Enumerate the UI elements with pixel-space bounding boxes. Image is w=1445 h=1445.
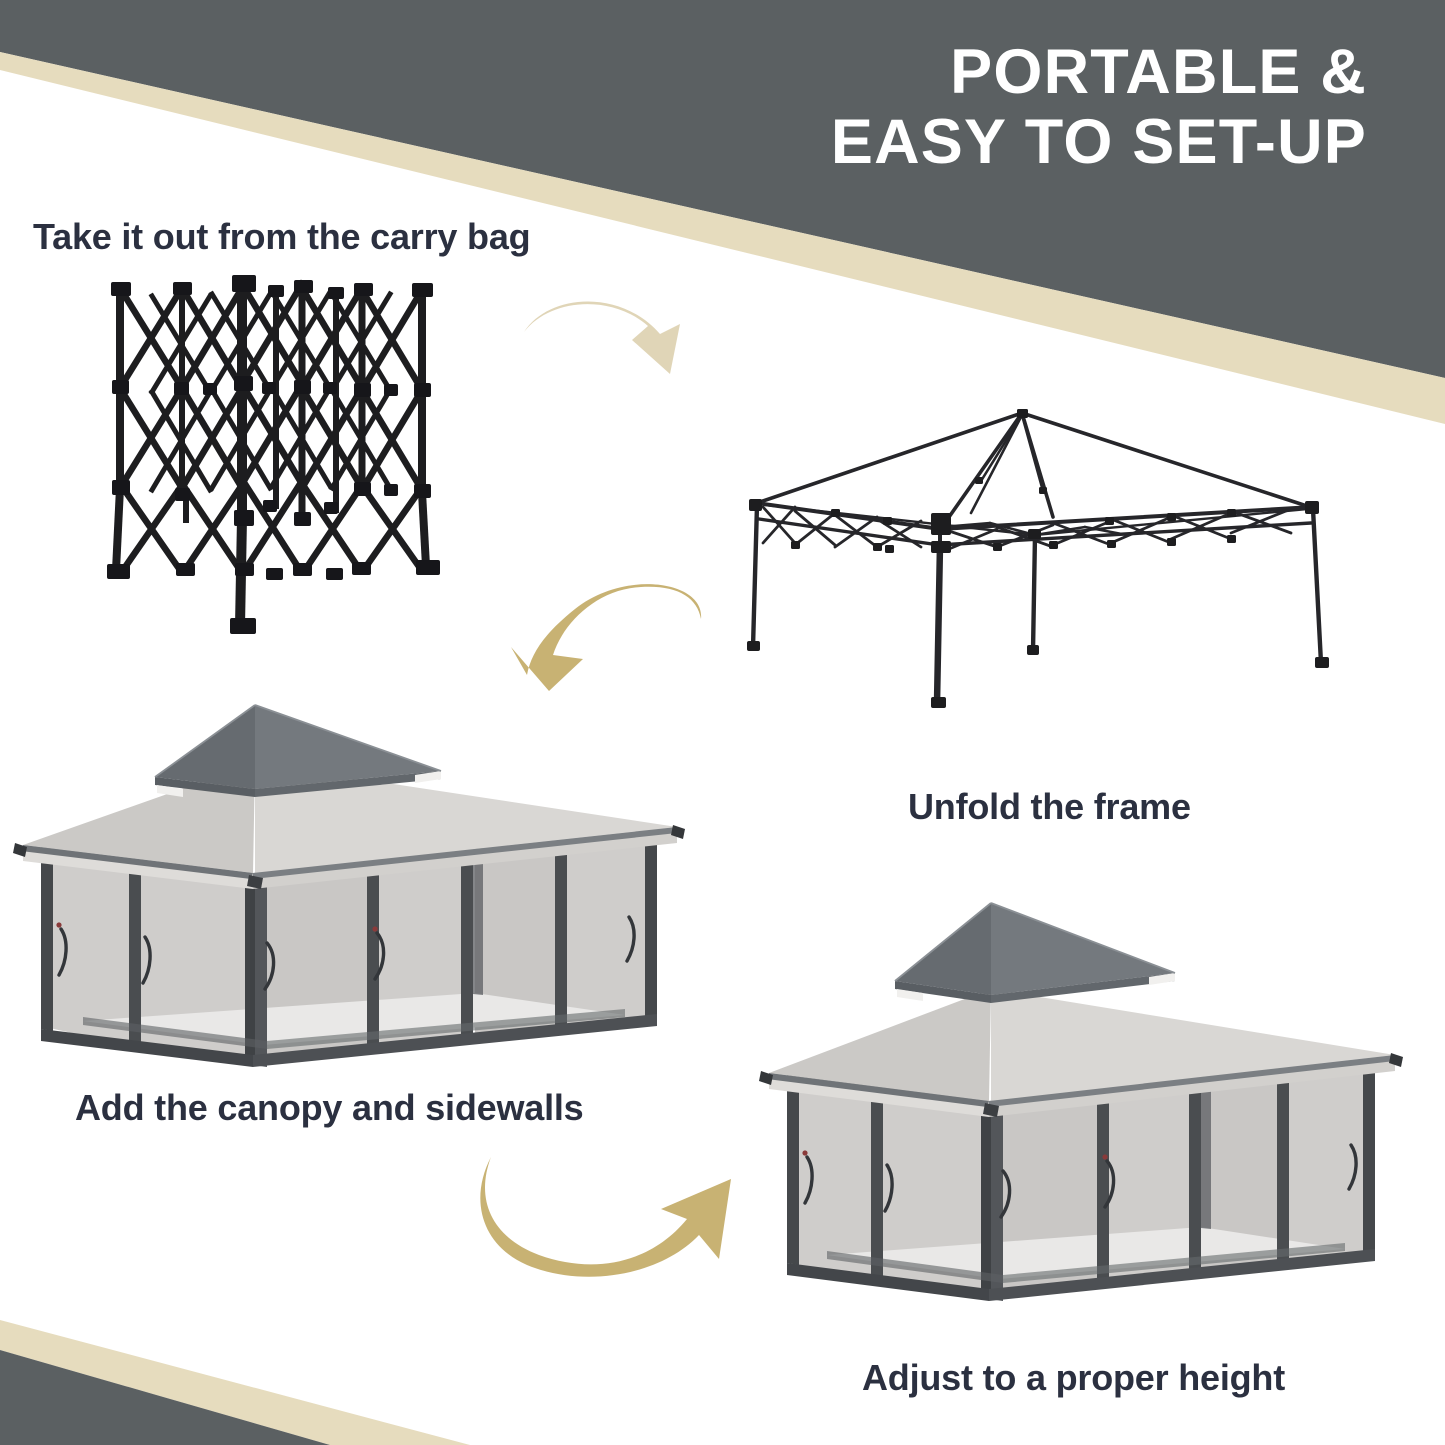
bottom-gray-wedge <box>0 1350 330 1445</box>
gazebo-with-canopy-illustration <box>5 685 685 1095</box>
canopy-vent-tier <box>155 705 441 797</box>
folded-frame-illustration <box>90 270 470 645</box>
canopy-vent-tier <box>895 903 1175 1003</box>
curved-arrow-icon <box>520 296 705 391</box>
step-4-caption: Adjust to a proper height <box>862 1357 1285 1399</box>
curved-arrow-icon <box>455 1155 755 1295</box>
unfolded-frame-illustration <box>735 395 1335 715</box>
page-title-line-1: PORTABLE & <box>831 38 1367 108</box>
frame-joint-blocks <box>747 409 1329 708</box>
step-2-caption: Unfold the frame <box>908 786 1191 828</box>
arrow-step3-to-step4 <box>455 1155 755 1295</box>
bottom-cream-stripe <box>0 1320 470 1445</box>
folded-frame-svg <box>90 270 470 645</box>
step-3-caption: Add the canopy and sidewalls <box>75 1087 584 1129</box>
gazebo-b-svg <box>755 885 1405 1315</box>
arrow-step2-to-step3 <box>505 575 725 695</box>
arrow-step1-to-step2 <box>520 296 705 391</box>
unfolded-frame-svg <box>735 395 1335 715</box>
curved-arrow-icon <box>505 575 725 695</box>
infographic-canvas: PORTABLE & EASY TO SET-UP Take it out fr… <box>0 0 1445 1445</box>
page-title-line-2: EASY TO SET-UP <box>831 108 1367 178</box>
step-1-caption: Take it out from the carry bag <box>33 216 530 258</box>
page-title: PORTABLE & EASY TO SET-UP <box>831 38 1367 178</box>
gazebo-raised-illustration <box>755 885 1405 1315</box>
gazebo-a-svg <box>5 685 685 1095</box>
